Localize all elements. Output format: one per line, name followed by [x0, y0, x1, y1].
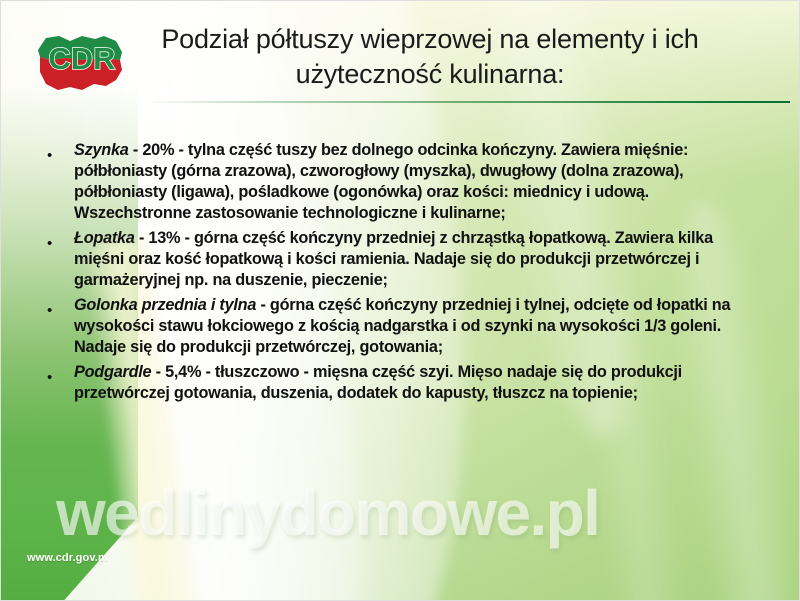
list-item: • Szynka - 20% - tylna część tuszy bez d… [40, 140, 766, 224]
footer-url: www.cdr.gov.pl [27, 552, 108, 564]
list-item-description: - 13% - górna część kończyny przedniej z… [74, 229, 713, 289]
slide-title-line-2: użyteczność kulinarna: [296, 59, 565, 89]
bullet-marker-icon: • [40, 140, 74, 163]
list-item-text: Golonka przednia i tylna - górna część k… [74, 295, 766, 358]
bullet-list: • Szynka - 20% - tylna część tuszy bez d… [40, 140, 766, 408]
title-divider [152, 101, 790, 103]
site-watermark: wedlinydomowe.pl [56, 481, 756, 545]
list-item-term: Łopatka [74, 229, 135, 247]
slide-title-line-1: Podział półtuszy wieprzowej na elementy … [161, 24, 698, 54]
cdr-logo: CDR [32, 24, 128, 102]
list-item: • Podgardle - 5,4% - tłuszczowo - mięsna… [40, 362, 766, 404]
list-item: • Golonka przednia i tylna - górna część… [40, 295, 766, 358]
bullet-marker-icon: • [40, 295, 74, 318]
bullet-marker-icon: • [40, 362, 74, 385]
list-item-term: Golonka przednia i tylna [74, 296, 256, 314]
bullet-marker-icon: • [40, 228, 74, 251]
list-item-description: - 5,4% - tłuszczowo - mięsna część szyi.… [74, 363, 682, 402]
list-item-term: Szynka [74, 141, 129, 159]
slide-title: Podział półtuszy wieprzowej na elementy … [130, 22, 730, 92]
list-item-text: Podgardle - 5,4% - tłuszczowo - mięsna c… [74, 362, 766, 404]
list-item-text: Łopatka - 13% - górna część kończyny prz… [74, 228, 766, 291]
list-item: • Łopatka - 13% - górna część kończyny p… [40, 228, 766, 291]
list-item-term: Podgardle [74, 363, 151, 381]
presentation-slide: CDR Podział półtuszy wieprzowej na eleme… [0, 0, 800, 601]
list-item-description: - 20% - tylna część tuszy bez dolnego od… [74, 141, 688, 222]
cdr-logo-text: CDR [48, 41, 115, 76]
list-item-text: Szynka - 20% - tylna część tuszy bez dol… [74, 140, 766, 224]
